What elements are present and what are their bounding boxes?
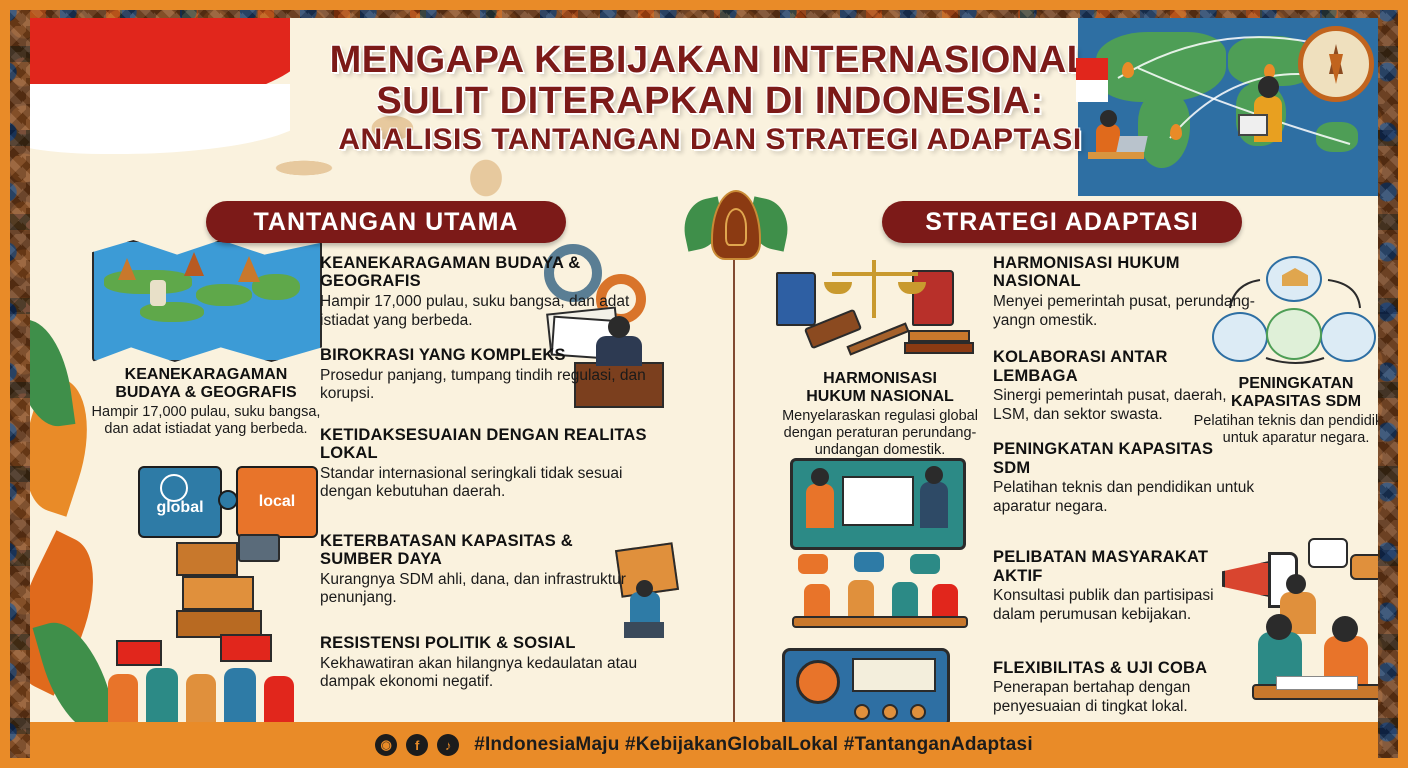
puzzle-global-local-illustration: global local xyxy=(138,462,318,544)
footer-bar: ◉ f ♪ #IndonesiaMaju #KebijakanGlobalLok… xyxy=(30,722,1378,768)
discussion-table-illustration xyxy=(1252,614,1378,722)
pill-right-label: STRATEGI ADAPTASI xyxy=(925,208,1198,237)
challenge-body: Kurangnya SDM ahli, dana, dan infrastruk… xyxy=(320,571,650,608)
boxes-stack-illustration xyxy=(176,542,296,638)
list-item: PELIBATAN MASYARAKAT AKTIF Konsultasi pu… xyxy=(993,548,1255,624)
section-header-challenges: TANTANGAN UTAMA xyxy=(206,201,566,243)
strategy-body: Penerapan bertahap dengan penyesuaian di… xyxy=(993,679,1255,716)
list-item: BIROKRASI YANG KOMPLEKS Prosedur panjang… xyxy=(320,346,650,404)
strategies-list: HARMONISASI HUKUM NASIONAL Menyei pemeri… xyxy=(993,254,1255,722)
public-meeting-illustration xyxy=(792,552,968,642)
cap-law-title2: HUKUM NASIONAL xyxy=(806,388,954,405)
strategy-title: KOLABORASI ANTAR LEMBAGA xyxy=(993,348,1255,385)
strategy-title: PENINGKATAN KAPASITAS SDM xyxy=(993,440,1255,477)
challenge-title: KEANEKARAGAMAN BUDAYA & GEOGRAFIS xyxy=(320,254,650,291)
leaf-decoration-icon xyxy=(30,315,75,431)
title-line-3: ANALISIS TANTANGAN DAN STRATEGI ADAPTASI xyxy=(280,124,1140,156)
caption-diversity: KEANEKARAGAMAN BUDAYA & GEOGRAFIS Hampir… xyxy=(90,366,322,438)
cap-map-body: Hampir 17,000 pulau, suku bangsa, dan ad… xyxy=(90,404,322,438)
strategy-title: FLEXIBILITAS & UJI COBA xyxy=(993,659,1255,677)
cap-sdm-title1: PENINGKATAN xyxy=(1239,375,1354,392)
list-item: FLEXIBILITAS & UJI COBA Penerapan bertah… xyxy=(993,659,1255,717)
puzzle-piece-local: local xyxy=(236,466,318,538)
column-divider xyxy=(733,256,735,722)
challenge-body: Kekhawatiran akan hilangnya kedaulatan a… xyxy=(320,655,680,692)
training-presentation-illustration xyxy=(790,458,966,550)
page-title: MENGAPA KEBIJAKAN INTERNASIONAL SULIT DI… xyxy=(280,40,1140,156)
strategy-body: Pelatihan teknis dan pendidikan untuk ap… xyxy=(993,479,1255,516)
list-item: RESISTENSI POLITIK & SOSIAL Kekhawatiran… xyxy=(320,634,680,692)
puzzle-left-label: global xyxy=(156,499,203,517)
challenge-title: BIROKRASI YANG KOMPLEKS xyxy=(320,346,650,364)
cap-law-body: Menyelaraskan regulasi global dengan per… xyxy=(758,408,1002,459)
indonesia-flag-ribbon-icon xyxy=(30,18,290,168)
challenges-list: KEANEKARAGAMAN BUDAYA & GEOGRAFIS Hampir… xyxy=(320,254,650,708)
facebook-icon[interactable]: f xyxy=(406,734,428,756)
gunungan-ornament-icon xyxy=(681,190,791,262)
list-item: KOLABORASI ANTAR LEMBAGA Sinergi pemerin… xyxy=(993,348,1255,424)
control-panel-illustration xyxy=(782,648,950,722)
puzzle-piece-global: global xyxy=(138,466,222,538)
list-item: KETIDAKSESUAIAN DENGAN REALITAS LOKAL St… xyxy=(320,426,650,502)
strategy-title: PELIBATAN MASYARAKAT AKTIF xyxy=(993,548,1255,585)
list-item: PENINGKATAN KAPASITAS SDM Pelatihan tekn… xyxy=(993,440,1255,516)
strategy-body: Menyei pemerintah pusat, perundang-yangn… xyxy=(993,293,1255,330)
section-header-strategies: STRATEGI ADAPTASI xyxy=(882,201,1242,243)
challenge-body: Hampir 17,000 pulau, suku bangsa, dan ad… xyxy=(320,293,650,330)
challenge-title: RESISTENSI POLITIK & SOSIAL xyxy=(320,634,680,652)
strategy-body: Sinergi pemerintah pusat, daerah, LSM, d… xyxy=(993,387,1255,424)
strategy-body: Konsultasi publik dan partisipasi dalam … xyxy=(993,587,1255,624)
pill-left-label: TANTANGAN UTAMA xyxy=(254,208,519,237)
title-line-2: SULIT DITERAPKAN DI INDONESIA: xyxy=(280,81,1140,122)
list-item: KEANEKARAGAMAN BUDAYA & GEOGRAFIS Hampir… xyxy=(320,254,650,330)
challenge-title: KETERBATASAN KAPASITAS & SUMBER DAYA xyxy=(320,532,650,569)
list-item: KETERBATASAN KAPASITAS & SUMBER DAYA Kur… xyxy=(320,532,650,608)
challenge-title: KETIDAKSESUAIAN DENGAN REALITAS LOKAL xyxy=(320,426,650,463)
compass-icon xyxy=(1298,26,1374,102)
infographic-canvas: MENGAPA KEBIJAKAN INTERNASIONAL SULIT DI… xyxy=(30,18,1378,722)
puzzle-right-label: local xyxy=(259,493,295,511)
challenge-body: Standar internasional seringkali tidak s… xyxy=(320,465,650,502)
folded-map-illustration xyxy=(92,240,322,362)
strategy-title: HARMONISASI HUKUM NASIONAL xyxy=(993,254,1255,291)
hashtags: #IndonesiaMaju #KebijakanGlobalLokal #Ta… xyxy=(474,734,1033,756)
cap-map-title1: KEANEKARAGAMAN xyxy=(125,366,288,383)
list-item: HARMONISASI HUKUM NASIONAL Menyei pemeri… xyxy=(993,254,1255,330)
instagram-icon[interactable]: ◉ xyxy=(375,734,397,756)
protest-crowd-illustration xyxy=(102,634,312,722)
cap-law-title1: HARMONISASI xyxy=(823,370,937,387)
challenge-body: Prosedur panjang, tumpang tindih regulas… xyxy=(320,367,650,404)
title-line-1: MENGAPA KEBIJAKAN INTERNASIONAL xyxy=(280,40,1140,81)
law-harmonisation-illustration xyxy=(772,256,984,366)
caption-law-harmonisation: HARMONISASI HUKUM NASIONAL Menyelaraskan… xyxy=(758,370,1002,459)
tiktok-icon[interactable]: ♪ xyxy=(437,734,459,756)
small-flag-icon xyxy=(1076,58,1108,102)
cap-map-title2: BUDAYA & GEOGRAFIS xyxy=(115,384,296,401)
